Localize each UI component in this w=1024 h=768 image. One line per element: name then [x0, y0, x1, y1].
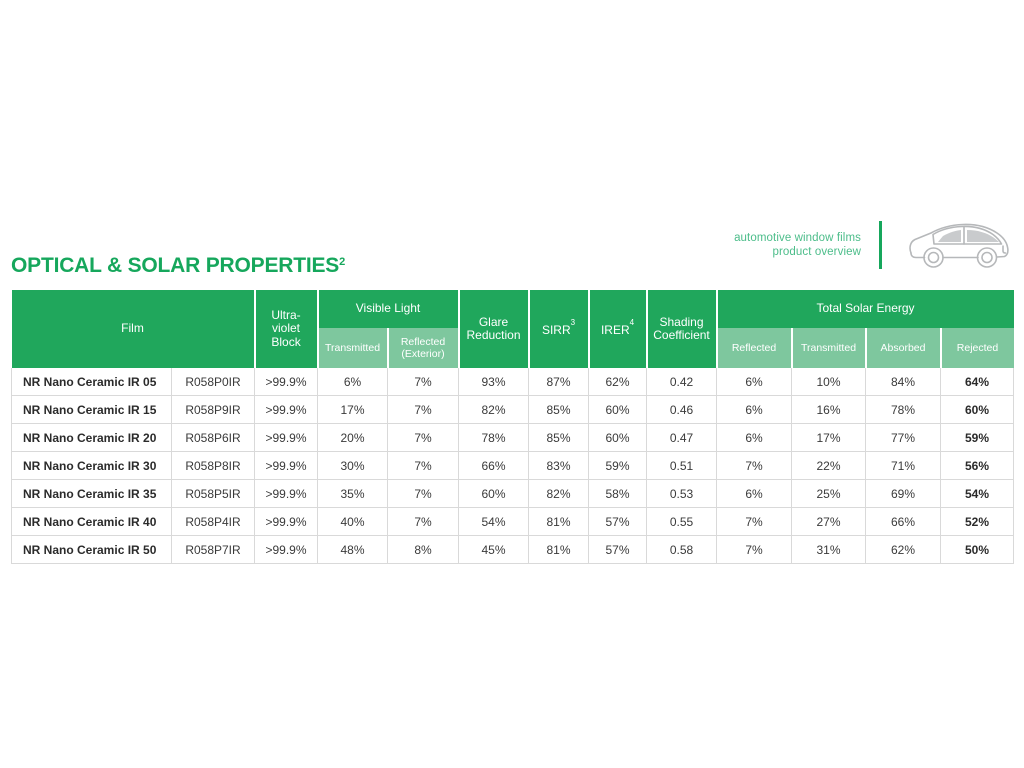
table-row: NR Nano Ceramic IR 40R058P4IR>99.9%40%7%…: [12, 508, 1014, 536]
table-row: NR Nano Ceramic IR 15R058P9IR>99.9%17%7%…: [12, 396, 1014, 424]
cell-uv-block: >99.9%: [255, 480, 318, 508]
cell-tse-reflected: 7%: [717, 536, 792, 564]
cell-vl-reflected: 7%: [388, 396, 459, 424]
header-irer-superscript: 4: [630, 318, 634, 327]
cell-glare-reduction: 82%: [459, 396, 529, 424]
cell-tse-rejected: 59%: [941, 424, 1014, 452]
header-glare-line1: Glare: [479, 315, 508, 329]
subheader-vl-transmitted: Transmitted: [318, 328, 388, 368]
header-shading-line1: Shading: [659, 315, 703, 329]
car-side-icon: [904, 217, 1014, 273]
cell-tse-transmitted: 25%: [792, 480, 866, 508]
header-visible-light: Visible Light: [318, 290, 459, 328]
cell-tse-reflected: 6%: [717, 480, 792, 508]
cell-film: NR Nano Ceramic IR 40: [12, 508, 172, 536]
cell-tse-absorbed: 84%: [866, 368, 941, 396]
cell-vl-reflected: 7%: [388, 368, 459, 396]
cell-vl-reflected: 7%: [388, 508, 459, 536]
cell-code: R058P8IR: [172, 452, 255, 480]
table-row: NR Nano Ceramic IR 30R058P8IR>99.9%30%7%…: [12, 452, 1014, 480]
header-uv-block-line2: violet: [272, 321, 300, 335]
cell-irer: 58%: [589, 480, 647, 508]
cell-film: NR Nano Ceramic IR 15: [12, 396, 172, 424]
cell-uv-block: >99.9%: [255, 396, 318, 424]
cell-shading-coefficient: 0.55: [647, 508, 717, 536]
cell-code: R058P9IR: [172, 396, 255, 424]
table-row: NR Nano Ceramic IR 05R058P0IR>99.9%6%7%9…: [12, 368, 1014, 396]
cell-vl-reflected: 7%: [388, 424, 459, 452]
cell-tse-transmitted: 16%: [792, 396, 866, 424]
table-row: NR Nano Ceramic IR 35R058P5IR>99.9%35%7%…: [12, 480, 1014, 508]
cell-irer: 57%: [589, 536, 647, 564]
cell-tse-rejected: 52%: [941, 508, 1014, 536]
brand-tagline: automotive window films product overview: [734, 231, 861, 260]
subheader-tse-transmitted: Transmitted: [792, 328, 866, 368]
cell-tse-rejected: 60%: [941, 396, 1014, 424]
cell-tse-absorbed: 62%: [866, 536, 941, 564]
header-sirr: SIRR3: [529, 290, 589, 368]
cell-tse-transmitted: 10%: [792, 368, 866, 396]
cell-tse-reflected: 6%: [717, 424, 792, 452]
header-sirr-text: SIRR: [542, 323, 571, 337]
cell-sirr: 85%: [529, 396, 589, 424]
cell-glare-reduction: 78%: [459, 424, 529, 452]
cell-uv-block: >99.9%: [255, 508, 318, 536]
cell-shading-coefficient: 0.47: [647, 424, 717, 452]
cell-tse-absorbed: 66%: [866, 508, 941, 536]
cell-code: R058P6IR: [172, 424, 255, 452]
brand-tagline-line2: product overview: [734, 245, 861, 260]
subheader-vl-reflected-line2: (Exterior): [401, 348, 444, 360]
header-glare-reduction: Glare Reduction: [459, 290, 529, 368]
cell-irer: 59%: [589, 452, 647, 480]
cell-shading-coefficient: 0.51: [647, 452, 717, 480]
header-total-solar-energy: Total Solar Energy: [717, 290, 1014, 328]
header-sirr-superscript: 3: [571, 318, 575, 327]
cell-vl-transmitted: 48%: [318, 536, 388, 564]
cell-shading-coefficient: 0.42: [647, 368, 717, 396]
brand-tagline-line1: automotive window films: [734, 231, 861, 246]
cell-tse-rejected: 56%: [941, 452, 1014, 480]
cell-film: NR Nano Ceramic IR 05: [12, 368, 172, 396]
cell-tse-transmitted: 27%: [792, 508, 866, 536]
header-shading-line2: Coefficient: [653, 328, 709, 342]
cell-shading-coefficient: 0.46: [647, 396, 717, 424]
cell-glare-reduction: 54%: [459, 508, 529, 536]
cell-vl-transmitted: 6%: [318, 368, 388, 396]
cell-code: R058P4IR: [172, 508, 255, 536]
cell-vl-transmitted: 30%: [318, 452, 388, 480]
subheader-tse-reflected: Reflected: [717, 328, 792, 368]
cell-sirr: 85%: [529, 424, 589, 452]
cell-tse-transmitted: 22%: [792, 452, 866, 480]
cell-tse-rejected: 64%: [941, 368, 1014, 396]
header-uv-block-line1: Ultra-: [271, 308, 300, 322]
cell-vl-transmitted: 20%: [318, 424, 388, 452]
cell-tse-absorbed: 69%: [866, 480, 941, 508]
cell-shading-coefficient: 0.58: [647, 536, 717, 564]
subheader-vl-reflected: Reflected (Exterior): [388, 328, 459, 368]
header-film: Film: [12, 290, 255, 368]
cell-sirr: 81%: [529, 536, 589, 564]
cell-tse-transmitted: 17%: [792, 424, 866, 452]
cell-vl-transmitted: 35%: [318, 480, 388, 508]
cell-code: R058P0IR: [172, 368, 255, 396]
cell-irer: 62%: [589, 368, 647, 396]
header-irer-text: IRER: [601, 323, 630, 337]
cell-tse-absorbed: 77%: [866, 424, 941, 452]
table-row: NR Nano Ceramic IR 50R058P7IR>99.9%48%8%…: [12, 536, 1014, 564]
header-irer: IRER4: [589, 290, 647, 368]
cell-vl-reflected: 7%: [388, 480, 459, 508]
table-header: Film Ultra- violet Block Visible Light G…: [12, 290, 1014, 368]
cell-irer: 57%: [589, 508, 647, 536]
cell-uv-block: >99.9%: [255, 368, 318, 396]
cell-film: NR Nano Ceramic IR 35: [12, 480, 172, 508]
cell-vl-transmitted: 17%: [318, 396, 388, 424]
cell-tse-rejected: 54%: [941, 480, 1014, 508]
cell-film: NR Nano Ceramic IR 20: [12, 424, 172, 452]
cell-uv-block: >99.9%: [255, 424, 318, 452]
cell-tse-reflected: 7%: [717, 452, 792, 480]
cell-sirr: 83%: [529, 452, 589, 480]
cell-vl-reflected: 7%: [388, 452, 459, 480]
header-shading-coefficient: Shading Coefficient: [647, 290, 717, 368]
cell-code: R058P5IR: [172, 480, 255, 508]
page-title-text: OPTICAL & SOLAR PROPERTIES: [11, 254, 339, 277]
cell-sirr: 82%: [529, 480, 589, 508]
cell-tse-absorbed: 78%: [866, 396, 941, 424]
table-header-group-row: Film Ultra- violet Block Visible Light G…: [12, 290, 1014, 328]
table-row: NR Nano Ceramic IR 20R058P6IR>99.9%20%7%…: [12, 424, 1014, 452]
cell-tse-reflected: 7%: [717, 508, 792, 536]
subheader-vl-reflected-line1: Reflected: [401, 336, 445, 348]
cell-tse-reflected: 6%: [717, 396, 792, 424]
cell-glare-reduction: 93%: [459, 368, 529, 396]
cell-sirr: 81%: [529, 508, 589, 536]
cell-tse-absorbed: 71%: [866, 452, 941, 480]
cell-uv-block: >99.9%: [255, 452, 318, 480]
cell-irer: 60%: [589, 396, 647, 424]
cell-shading-coefficient: 0.53: [647, 480, 717, 508]
header-uv-block-line3: Block: [271, 335, 300, 349]
table-body: NR Nano Ceramic IR 05R058P0IR>99.9%6%7%9…: [12, 368, 1014, 564]
cell-vl-reflected: 8%: [388, 536, 459, 564]
page-title: OPTICAL & SOLAR PROPERTIES2: [11, 254, 345, 278]
brand-block: automotive window films product overview: [700, 216, 1014, 274]
optical-solar-properties-table: Film Ultra- violet Block Visible Light G…: [11, 290, 1014, 564]
cell-glare-reduction: 66%: [459, 452, 529, 480]
cell-film: NR Nano Ceramic IR 50: [12, 536, 172, 564]
cell-uv-block: >99.9%: [255, 536, 318, 564]
cell-glare-reduction: 45%: [459, 536, 529, 564]
cell-irer: 60%: [589, 424, 647, 452]
brand-divider: [879, 221, 882, 269]
cell-tse-reflected: 6%: [717, 368, 792, 396]
header-glare-line2: Reduction: [466, 328, 520, 342]
cell-film: NR Nano Ceramic IR 30: [12, 452, 172, 480]
subheader-tse-rejected: Rejected: [941, 328, 1014, 368]
subheader-tse-absorbed: Absorbed: [866, 328, 941, 368]
header-uv-block: Ultra- violet Block: [255, 290, 318, 368]
cell-glare-reduction: 60%: [459, 480, 529, 508]
cell-tse-transmitted: 31%: [792, 536, 866, 564]
cell-tse-rejected: 50%: [941, 536, 1014, 564]
cell-code: R058P7IR: [172, 536, 255, 564]
page-title-superscript: 2: [339, 256, 345, 268]
cell-vl-transmitted: 40%: [318, 508, 388, 536]
cell-sirr: 87%: [529, 368, 589, 396]
